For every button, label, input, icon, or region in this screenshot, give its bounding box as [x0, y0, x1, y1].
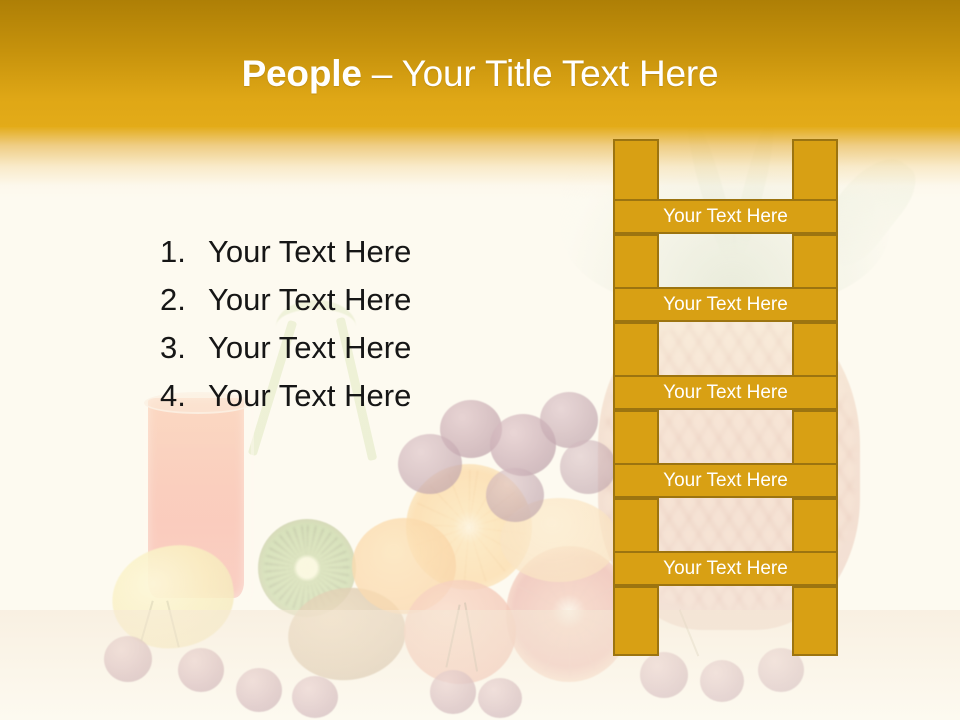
presentation-slide: People – Your Title Text Here 1. Your Te… [0, 0, 960, 720]
ladder-rail-right-segment [792, 234, 838, 290]
list-item-number: 2. [160, 276, 208, 324]
ladder-rung-label: Your Text Here [663, 470, 788, 491]
ladder-rail-left-segment [613, 498, 659, 554]
ladder-rail-left-segment [613, 410, 659, 466]
ladder-rail-right-segment [792, 322, 838, 378]
list-item-label: Your Text Here [208, 228, 540, 276]
page-title-rest: – Your Title Text Here [362, 53, 719, 94]
list-item-label: Your Text Here [208, 372, 540, 420]
ladder-rung-label: Your Text Here [663, 206, 788, 227]
ladder-rail-right-segment [792, 586, 838, 656]
ladder-rung-label: Your Text Here [663, 558, 788, 579]
ladder-rail-right-segment [792, 410, 838, 466]
numbered-list: 1. Your Text Here 2. Your Text Here 3. Y… [160, 228, 540, 420]
ladder-rung[interactable]: Your Text Here [613, 375, 838, 410]
ladder-diagram: Your Text Here Your Text Here Your Text … [613, 139, 838, 656]
list-item[interactable]: 3. Your Text Here [160, 324, 540, 372]
ladder-rung[interactable]: Your Text Here [613, 551, 838, 586]
list-item[interactable]: 4. Your Text Here [160, 372, 540, 420]
ladder-rung-label: Your Text Here [663, 382, 788, 403]
page-title-strong: People [242, 53, 362, 94]
list-item-label: Your Text Here [208, 324, 540, 372]
list-item-number: 1. [160, 228, 208, 276]
ladder-rail-left-segment [613, 586, 659, 656]
ladder-rail-right-segment [792, 498, 838, 554]
ladder-rail-left-segment [613, 139, 659, 201]
ladder-rail-right-segment [792, 139, 838, 201]
ladder-rung-label: Your Text Here [663, 294, 788, 315]
ladder-rung[interactable]: Your Text Here [613, 463, 838, 498]
list-item-label: Your Text Here [208, 276, 540, 324]
list-item-number: 3. [160, 324, 208, 372]
list-item[interactable]: 1. Your Text Here [160, 228, 540, 276]
page-title: People – Your Title Text Here [0, 52, 960, 96]
list-item[interactable]: 2. Your Text Here [160, 276, 540, 324]
ladder-rung[interactable]: Your Text Here [613, 287, 838, 322]
ladder-rail-left-segment [613, 234, 659, 290]
ladder-rung[interactable]: Your Text Here [613, 199, 838, 234]
ladder-rail-left-segment [613, 322, 659, 378]
list-item-number: 4. [160, 372, 208, 420]
